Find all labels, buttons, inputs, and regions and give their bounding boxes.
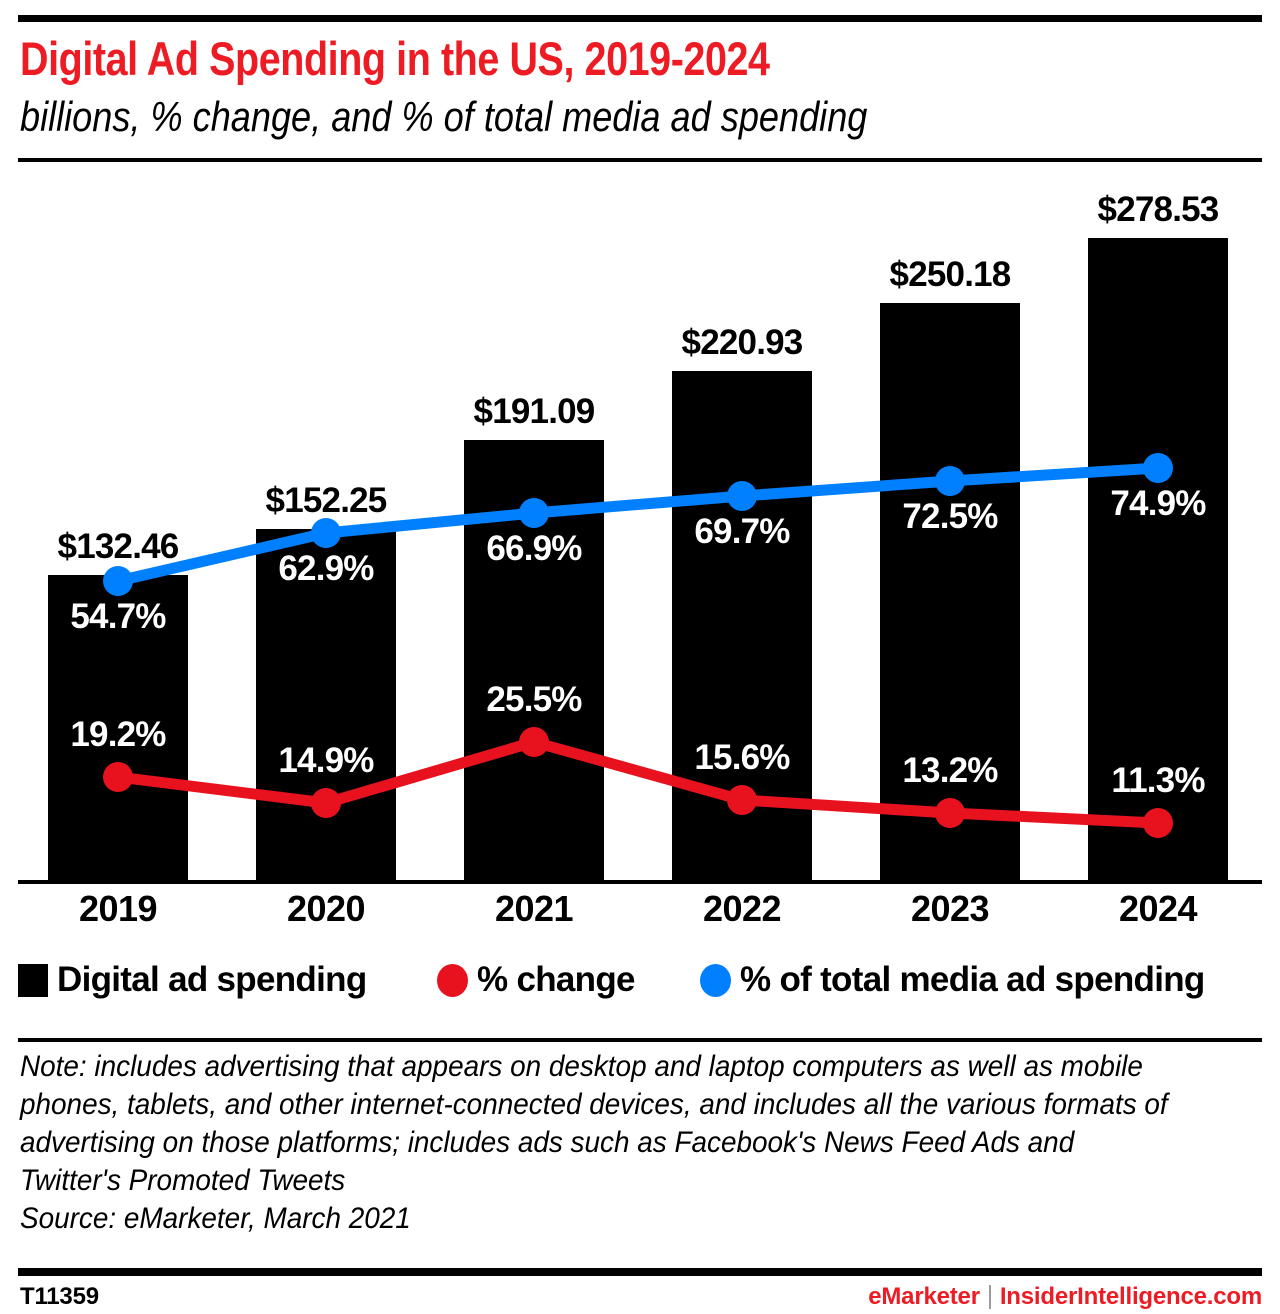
page-subtitle: billions, % change, and % of total media… bbox=[20, 92, 1086, 142]
site-name[interactable]: InsiderIntelligence.com bbox=[1000, 1283, 1262, 1311]
footer-branding: eMarketer InsiderIntelligence.com bbox=[868, 1283, 1262, 1311]
top-rule bbox=[18, 15, 1262, 22]
pct-change-value-label: 19.2% bbox=[8, 715, 228, 755]
source-text: Source: eMarketer, March 2021 bbox=[20, 1200, 1181, 1238]
x-tick-2020: 2020 bbox=[226, 888, 426, 930]
x-tick-2019: 2019 bbox=[18, 888, 218, 930]
bar-2021 bbox=[464, 440, 604, 880]
legend-circle-icon bbox=[700, 964, 731, 997]
x-tick-2021: 2021 bbox=[434, 888, 634, 930]
legend-item-pct-of-total-media[interactable]: % of total media ad spending bbox=[700, 958, 1205, 1002]
x-tick-2022: 2022 bbox=[642, 888, 842, 930]
pct-of-total-media-value-label: 74.9% bbox=[1048, 484, 1268, 524]
chart-area: $132.46$152.25$191.09$220.93$250.18$278.… bbox=[0, 162, 1280, 932]
page-title: Digital Ad Spending in the US, 2019-2024 bbox=[20, 32, 1062, 86]
bar-value-label: $152.25 bbox=[216, 481, 436, 521]
footer-rule bbox=[18, 1268, 1262, 1276]
legend-item-digital-ad-spending[interactable]: Digital ad spending bbox=[18, 958, 367, 1002]
bar-value-label: $191.09 bbox=[424, 392, 644, 432]
bar-value-label: $278.53 bbox=[1048, 190, 1268, 230]
pct-of-total-media-value-label: 66.9% bbox=[424, 529, 644, 569]
notes-block: Note: includes advertising that appears … bbox=[20, 1048, 1181, 1238]
bar-value-label: $132.46 bbox=[8, 527, 228, 567]
bar-2023 bbox=[880, 303, 1020, 880]
legend-label: % change bbox=[477, 960, 635, 1000]
legend-item-pct-change[interactable]: % change bbox=[437, 958, 635, 1002]
legend-square-icon bbox=[18, 964, 48, 997]
legend-circle-icon bbox=[437, 964, 468, 997]
pct-change-value-label: 15.6% bbox=[632, 738, 852, 778]
x-tick-2024: 2024 bbox=[1058, 888, 1258, 930]
brand-name: eMarketer bbox=[868, 1283, 980, 1311]
pct-of-total-media-value-label: 54.7% bbox=[8, 597, 228, 637]
chart-legend: Digital ad spending % change % of total … bbox=[0, 950, 1280, 1012]
pct-change-value-label: 13.2% bbox=[840, 751, 1060, 791]
bar-value-label: $250.18 bbox=[840, 255, 1060, 295]
pct-of-total-media-value-label: 72.5% bbox=[840, 497, 1060, 537]
plot-region: $132.46$152.25$191.09$220.93$250.18$278.… bbox=[0, 162, 1280, 932]
pct-of-total-media-value-label: 69.7% bbox=[632, 512, 852, 552]
pct-change-value-label: 25.5% bbox=[424, 680, 644, 720]
x-tick-2023: 2023 bbox=[850, 888, 1050, 930]
chart-id: T11359 bbox=[20, 1283, 99, 1311]
bar-2022 bbox=[672, 371, 812, 880]
note-text: Note: includes advertising that appears … bbox=[20, 1048, 1181, 1200]
divider-icon bbox=[989, 1285, 991, 1309]
pct-change-value-label: 14.9% bbox=[216, 741, 436, 781]
legend-label: Digital ad spending bbox=[57, 960, 367, 1000]
pct-of-total-media-value-label: 62.9% bbox=[216, 549, 436, 589]
x-axis-line bbox=[18, 880, 1262, 884]
chart-page: Digital Ad Spending in the US, 2019-2024… bbox=[0, 0, 1280, 1314]
legend-rule bbox=[18, 1038, 1262, 1042]
pct-change-value-label: 11.3% bbox=[1048, 761, 1268, 801]
bar-value-label: $220.93 bbox=[632, 323, 852, 363]
legend-label: % of total media ad spending bbox=[740, 960, 1205, 1000]
